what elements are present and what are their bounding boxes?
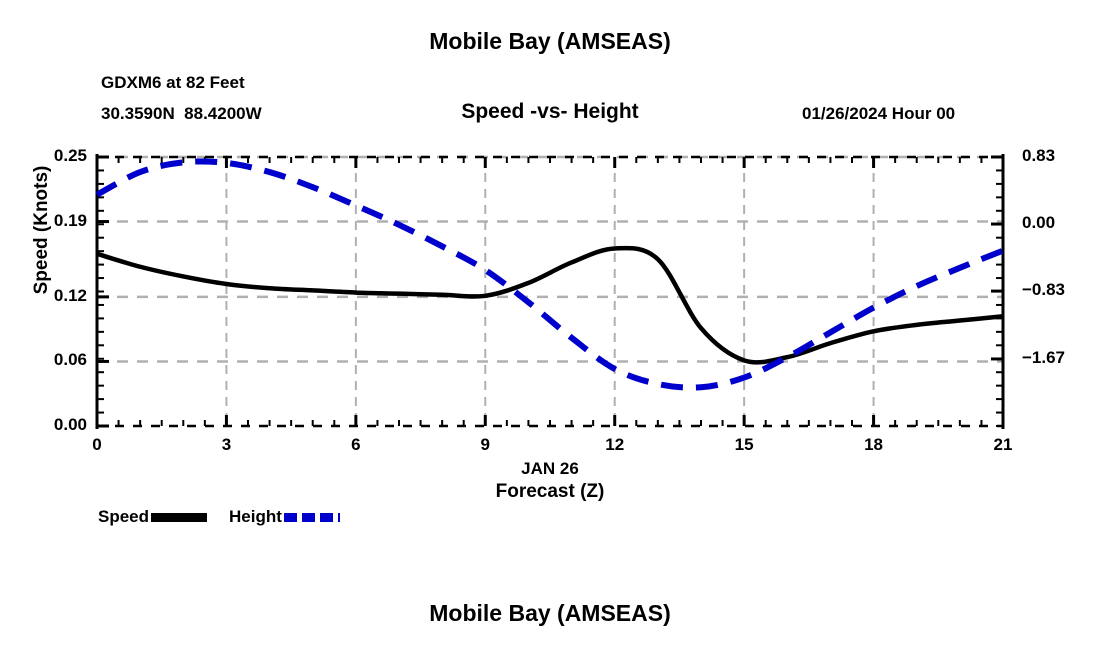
y-tick-label-right: 0.83	[1022, 146, 1055, 166]
x-tick-label: 9	[481, 435, 490, 455]
x-tick-label: 15	[735, 435, 754, 455]
legend-item-speed[interactable]: Speed	[98, 507, 207, 527]
chart-page: Mobile Bay (AMSEAS) GDXM6 at 82 Feet 30.…	[0, 0, 1100, 650]
x-tick-label: 18	[864, 435, 883, 455]
y-tick-label-right: −1.67	[1022, 348, 1065, 368]
y-tick-label-left: 0.06	[54, 350, 87, 370]
y-tick-label-right: −0.83	[1022, 280, 1065, 300]
legend-label: Height	[229, 507, 282, 527]
plot-canvas	[0, 0, 1100, 650]
legend-label: Speed	[98, 507, 149, 527]
x-tick-label: 21	[994, 435, 1013, 455]
x-tick-label: 3	[222, 435, 231, 455]
legend-item-height[interactable]: Height	[229, 507, 340, 527]
page-title-bottom: Mobile Bay (AMSEAS)	[0, 600, 1100, 627]
x-tick-label: 0	[92, 435, 101, 455]
legend-swatch-solid	[151, 513, 207, 522]
y-tick-label-left: 0.00	[54, 415, 87, 435]
legend-swatch-dashed	[284, 513, 340, 522]
x-tick-label: 12	[605, 435, 624, 455]
series-line-speed	[97, 248, 1003, 362]
y-tick-label-left: 0.25	[54, 146, 87, 166]
x-tick-label: 6	[351, 435, 360, 455]
chart-legend: SpeedHeight	[98, 507, 362, 527]
y-tick-label-left: 0.12	[54, 286, 87, 306]
y-tick-label-right: 0.00	[1022, 213, 1055, 233]
y-tick-label-left: 0.19	[54, 211, 87, 231]
